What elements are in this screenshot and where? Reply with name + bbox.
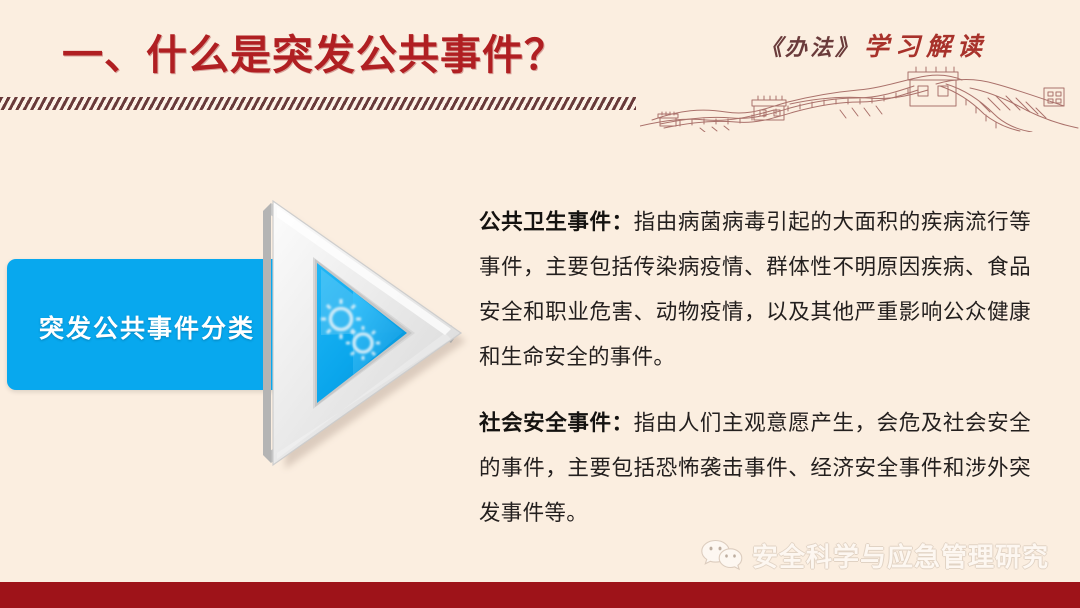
watermark-text: 安全科学与应急管理研究	[752, 537, 1049, 574]
paragraph-label-public-health: 公共卫生事件：	[479, 210, 634, 235]
play-triangle-right-icon	[255, 185, 470, 475]
header-art-accent-label: 学习解读	[864, 32, 988, 61]
header-art: 《办法》学习解读	[640, 0, 1080, 132]
category-label-text: 突发公共事件分类	[39, 309, 255, 345]
bracket-close-glyph: 》	[835, 36, 860, 61]
title-divider-hatched	[0, 97, 636, 110]
header-art-caption: 《办法》学习解读	[760, 27, 988, 63]
footer-bar	[0, 582, 1080, 608]
category-label-bar: 突发公共事件分类	[7, 259, 290, 390]
wechat-icon	[700, 538, 744, 572]
document-name-label: 办法	[785, 36, 835, 61]
watermark: 安全科学与应急管理研究	[700, 534, 1049, 576]
great-wall-illustration-icon	[640, 58, 1080, 132]
bracket-open-glyph: 《	[760, 36, 785, 61]
body-copy: 公共卫生事件：指由病菌病毒引起的大面积的疾病流行等事件，主要包括传染病疫情、群体…	[479, 178, 1031, 558]
page-title: 一、什么是突发公共事件？	[62, 21, 566, 81]
paragraph-social-security: 社会安全事件：指由人们主观意愿产生，会危及社会安全的事件，主要包括恐怖袭击事件、…	[479, 401, 1031, 536]
slide-canvas: 一、什么是突发公共事件？ 《办法》学习解读	[0, 0, 1080, 608]
paragraph-public-health: 公共卫生事件：指由病菌病毒引起的大面积的疾病流行等事件，主要包括传染病疫情、群体…	[479, 200, 1031, 380]
paragraph-label-social-security: 社会安全事件：	[479, 411, 634, 436]
